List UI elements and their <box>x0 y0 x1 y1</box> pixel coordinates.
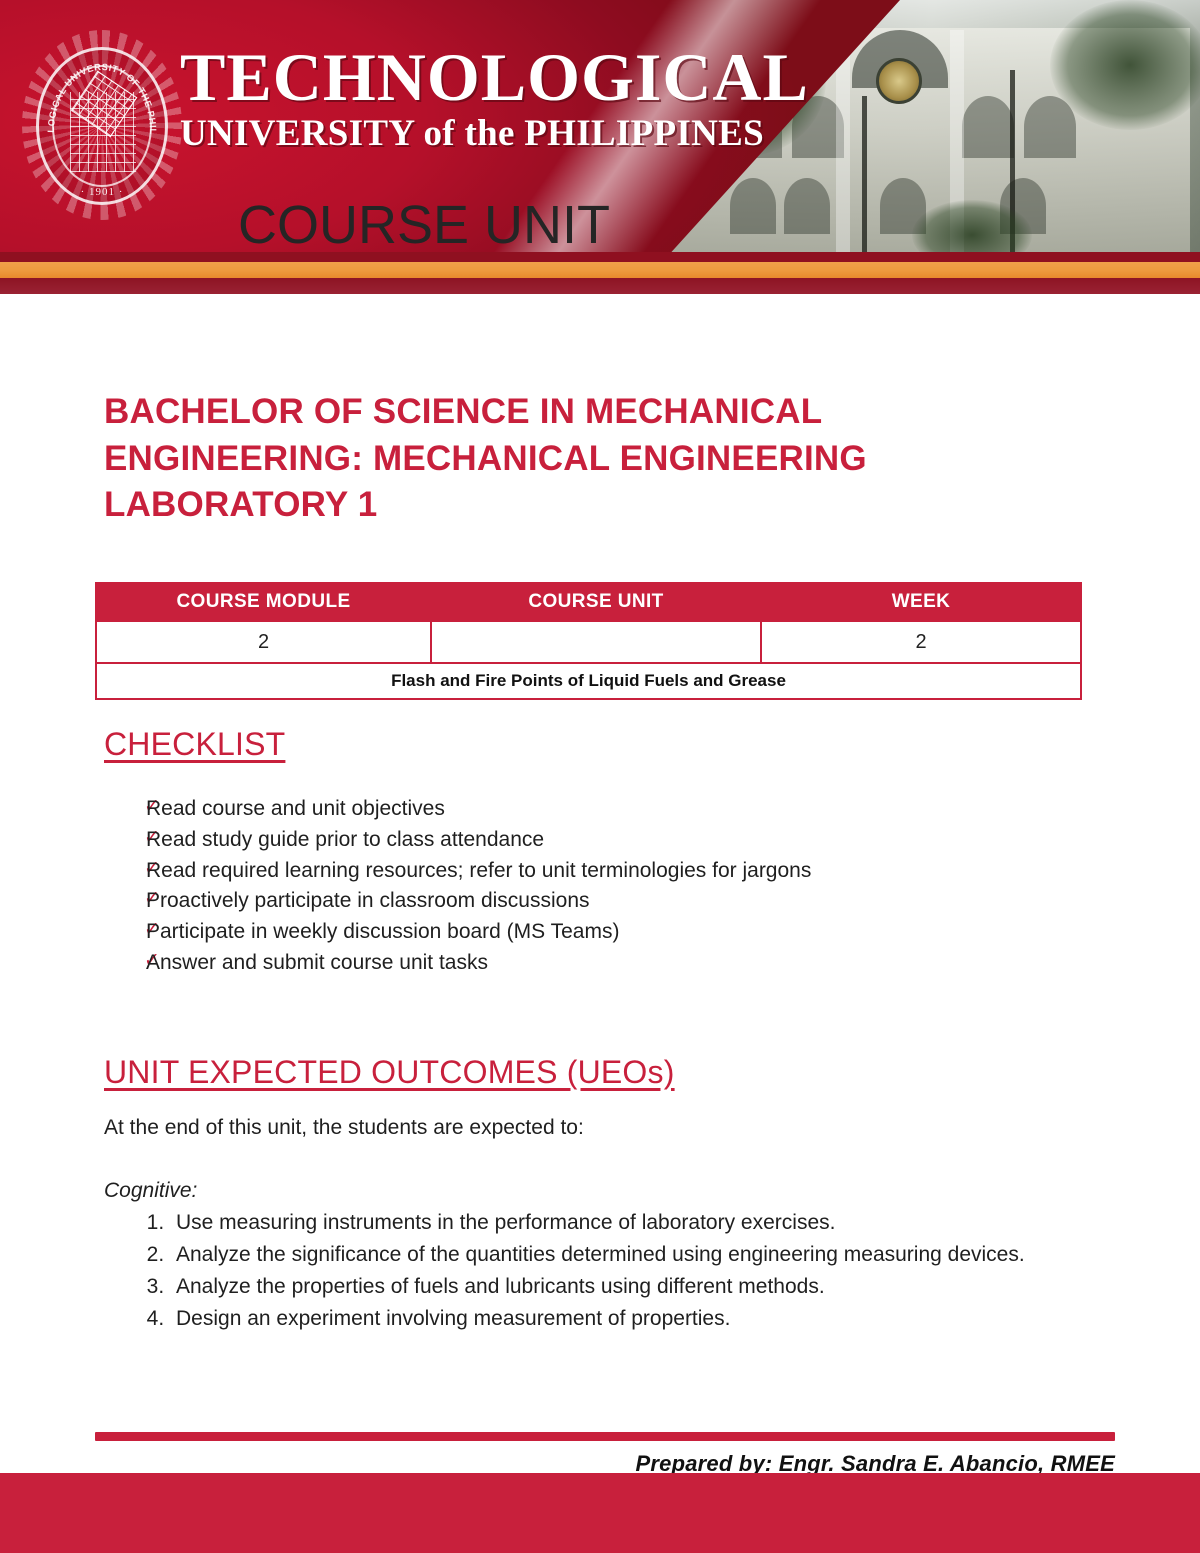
wordmark-line-2: UNIVERSITY of the PHILIPPINES <box>180 115 700 154</box>
checklist-list: ✓ Read course and unit objectives ✓ Read… <box>104 794 884 979</box>
list-item: ✓ Answer and submit course unit tasks <box>104 948 884 978</box>
list-item: Analyze the properties of fuels and lubr… <box>170 1271 1104 1303</box>
banner-divider-dark-top <box>0 252 1200 262</box>
checklist-item-label: Read course and unit objectives <box>146 794 884 824</box>
cell-course-module-value: 2 <box>96 621 431 663</box>
banner-divider-orange <box>0 262 1200 278</box>
cell-week-value: 2 <box>761 621 1081 663</box>
list-item: Design an experiment involving measureme… <box>170 1303 1104 1335</box>
university-wordmark: TECHNOLOGICAL UNIVERSITY of the PHILIPPI… <box>180 44 700 153</box>
check-icon: ✓ <box>104 856 146 883</box>
checklist-item-label: Read required learning resources; refer … <box>146 856 884 886</box>
section-heading-checklist: CHECKLIST <box>104 726 285 763</box>
table-row: 2 2 <box>96 621 1081 663</box>
banner-divider-dark-bottom <box>0 278 1200 294</box>
seal-year-label: · 1901 · <box>22 186 182 198</box>
document-body: BACHELOR OF SCIENCE IN MECHANICAL ENGINE… <box>0 294 1200 1553</box>
column-header-week: WEEK <box>761 583 1081 621</box>
list-item: ✓ Read required learning resources; refe… <box>104 856 884 886</box>
arch-window <box>962 96 1014 158</box>
list-item: ✓ Proactively participate in classroom d… <box>104 886 884 916</box>
course-info-table: COURSE MODULE COURSE UNIT WEEK 2 2 Flash… <box>95 582 1082 700</box>
building-crest-icon <box>876 58 922 104</box>
checklist-item-label: Read study guide prior to class attendan… <box>146 825 884 855</box>
table-row: Flash and Fire Points of Liquid Fuels an… <box>96 663 1081 699</box>
column-header-course-unit: COURSE UNIT <box>431 583 761 621</box>
ueo-domain-label: Cognitive: <box>104 1179 197 1203</box>
wordmark-line-1: TECHNOLOGICAL <box>180 44 700 111</box>
check-icon: ✓ <box>104 794 146 821</box>
check-icon: ✓ <box>104 917 146 944</box>
list-item: ✓ Read course and unit objectives <box>104 794 884 824</box>
seal-ring-text: TECHNOLOGICAL UNIVERSITY OF THE PHILIPPI… <box>42 54 162 198</box>
list-item: Analyze the significance of the quantiti… <box>170 1239 1104 1271</box>
foliage <box>1050 0 1200 130</box>
ueo-lead-text: At the end of this unit, the students ar… <box>104 1116 584 1140</box>
lamp-post <box>862 96 867 256</box>
column-header-course-module: COURSE MODULE <box>96 583 431 621</box>
footer-red-bar <box>0 1473 1200 1553</box>
list-item: ✓ Participate in weekly discussion board… <box>104 917 884 947</box>
checklist-item-label: Answer and submit course unit tasks <box>146 948 884 978</box>
check-icon: ✓ <box>104 886 146 913</box>
arch-window <box>784 178 830 234</box>
check-icon: ✓ <box>104 825 146 852</box>
footer-divider-rule <box>95 1432 1115 1441</box>
svg-text:TECHNOLOGICAL UNIVERSITY OF TH: TECHNOLOGICAL UNIVERSITY OF THE PHILIPPI… <box>42 54 158 135</box>
tup-seal-logo: TECHNOLOGICAL UNIVERSITY OF THE PHILIPPI… <box>22 30 182 220</box>
ueo-outcome-list: Use measuring instruments in the perform… <box>104 1207 1104 1335</box>
banner-course-unit-label: COURSE UNIT <box>238 198 610 252</box>
section-heading-unit-expected-outcomes: UNIT EXPECTED OUTCOMES (UEOs) <box>104 1054 675 1091</box>
checklist-item-label: Proactively participate in classroom dis… <box>146 886 884 916</box>
checklist-item-label: Participate in weekly discussion board (… <box>146 917 884 947</box>
check-icon: ✓ <box>104 948 146 975</box>
arch-window <box>730 178 776 234</box>
cell-topic-title: Flash and Fire Points of Liquid Fuels an… <box>96 663 1081 699</box>
page-header-banner: TECHNOLOGICAL UNIVERSITY OF THE PHILIPPI… <box>0 0 1200 258</box>
seal-ring-text-label: TECHNOLOGICAL UNIVERSITY OF THE PHILIPPI… <box>42 54 158 135</box>
page-title: BACHELOR OF SCIENCE IN MECHANICAL ENGINE… <box>104 389 1004 528</box>
cell-course-unit-value <box>431 621 761 663</box>
list-item: ✓ Read study guide prior to class attend… <box>104 825 884 855</box>
table-header-row: COURSE MODULE COURSE UNIT WEEK <box>96 583 1081 621</box>
list-item: Use measuring instruments in the perform… <box>170 1207 1104 1239</box>
